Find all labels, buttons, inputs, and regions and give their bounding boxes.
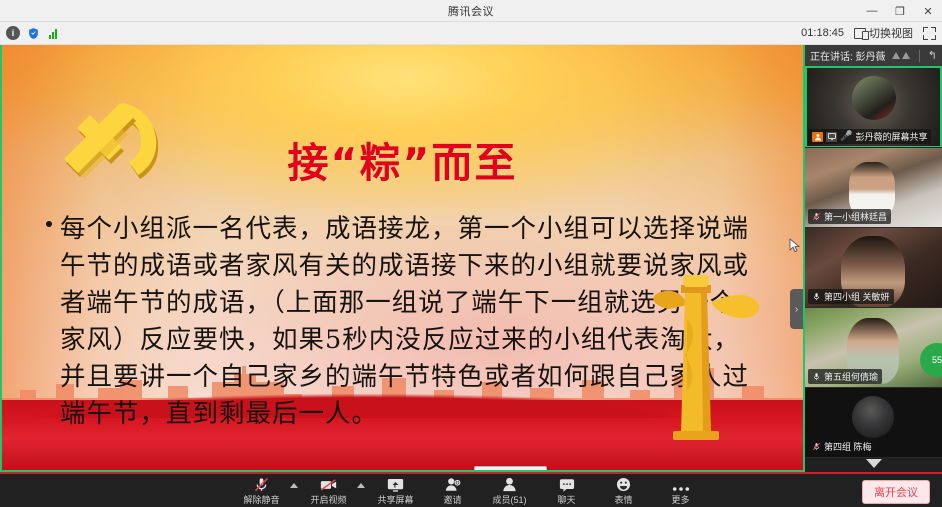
participant-nametag: 🎤 彭丹薇的屏幕共享	[808, 129, 931, 144]
meeting-toolbar: 解除静音 开启视频 共享屏幕 邀请	[0, 472, 942, 507]
camera-off-icon	[320, 477, 337, 492]
toolbar-label: 开启视频	[310, 493, 346, 506]
share-screen-icon	[387, 477, 404, 492]
speaking-indicator: 正在讲话: 彭丹薇 ↰	[805, 45, 942, 66]
minimize-button[interactable]: —	[858, 0, 886, 22]
mic-muted-icon	[254, 477, 269, 492]
unmute-button[interactable]: 解除静音	[233, 474, 290, 507]
mic-muted-icon	[812, 212, 821, 221]
chat-button[interactable]: 聊天	[538, 474, 595, 507]
share-screen-button[interactable]: 共享屏幕	[367, 474, 424, 507]
participant-name: 第四组 陈梅	[824, 440, 872, 453]
toolbar-label: 邀请	[443, 493, 461, 506]
mic-muted-icon	[812, 442, 821, 451]
mic-on-icon: 🎤	[840, 132, 852, 142]
more-button[interactable]: 更多	[652, 474, 709, 507]
divider	[919, 50, 920, 62]
collapse-panel-button[interactable]: ›	[790, 289, 803, 329]
presentation-slide: 接“粽”而至 每个小组派一名代表，成语接龙，第一个小组可以选择说端午节的成语或者…	[2, 45, 803, 470]
participant-tile[interactable]: 第四组 陈梅	[805, 388, 942, 458]
participant-tile[interactable]: 55 第五组何倩瑜	[805, 308, 942, 388]
switch-view-label: 切换视图	[869, 25, 913, 41]
window-title: 腾讯会议	[0, 3, 942, 19]
slide-title: 接“粽”而至	[2, 129, 803, 189]
participant-nametag: 第一小组林廷昌	[808, 209, 891, 224]
signal-icon[interactable]	[46, 28, 60, 39]
chevron-down-icon[interactable]	[805, 455, 942, 471]
avatar	[852, 396, 894, 438]
mic-on-icon	[812, 372, 821, 381]
emoji-face-icon	[616, 477, 631, 492]
toolbar-label: 共享屏幕	[377, 493, 413, 506]
participant-tile[interactable]: 🎤 彭丹薇的屏幕共享	[805, 66, 942, 148]
huabiao-pillar-icon	[651, 269, 761, 444]
mic-options-caret[interactable]	[290, 483, 298, 488]
slide-body-content: 每个小组派一名代表，成语接龙，第一个小组可以选择说端午节的成语或者家风有关的成语…	[60, 214, 749, 429]
info-icon[interactable]: i	[6, 26, 20, 40]
mic-on-icon	[812, 292, 821, 301]
participants-icon	[502, 477, 517, 492]
window-title-bar: 腾讯会议 — ❐ ✕	[0, 0, 942, 22]
more-dots-icon	[672, 477, 690, 492]
bullet-point-icon	[46, 221, 52, 227]
toolbar-label: 解除静音	[243, 493, 279, 506]
participant-tile[interactable]: 第四小组 关敏妍	[805, 228, 942, 308]
participant-rail: 正在讲话: 彭丹薇 ↰ 🎤 彭丹薇的屏幕共享	[805, 45, 942, 472]
invite-button[interactable]: 邀请	[424, 474, 481, 507]
participant-name: 第四小组 关敏妍	[824, 290, 890, 303]
meeting-status-icons: i	[6, 26, 60, 40]
meeting-timer: 01:18:45	[801, 27, 844, 39]
meeting-bar-right: 01:18:45 切换视图	[801, 25, 936, 41]
chat-bubble-icon	[559, 477, 575, 492]
leave-meeting-button[interactable]: 离开会议	[862, 480, 930, 504]
participant-name: 彭丹薇的屏幕共享	[855, 130, 927, 143]
invite-person-icon	[445, 477, 461, 492]
maximize-button[interactable]: ❐	[886, 0, 914, 22]
participant-name: 第五组何倩瑜	[824, 370, 878, 383]
participant-nametag: 第五组何倩瑜	[808, 369, 882, 384]
toolbar-label: 成员(51)	[492, 493, 526, 506]
participant-nametag: 第四组 陈梅	[808, 439, 876, 454]
person-icon	[812, 132, 823, 142]
toolbar-label: 更多	[671, 493, 689, 506]
audio-wave-icon	[892, 52, 910, 59]
participant-name: 第一小组林廷昌	[824, 210, 887, 223]
participants-button[interactable]: 成员(51)	[481, 474, 538, 507]
meeting-top-bar: i 01:18:45 切换视图	[0, 22, 942, 45]
shared-screen-stage[interactable]: 接“粽”而至 每个小组派一名代表，成语接龙，第一个小组可以选择说端午节的成语或者…	[0, 45, 805, 472]
participant-nametag: 第四小组 关敏妍	[808, 289, 894, 304]
back-arrow-icon[interactable]: ↰	[924, 49, 937, 62]
close-button[interactable]: ✕	[914, 0, 942, 22]
tencent-meeting-window: 腾讯会议 — ❐ ✕ i 01:18:45 切换视图	[0, 0, 942, 507]
speaking-label: 正在讲话: 彭丹薇	[810, 48, 886, 63]
toolbar-label: 表情	[614, 493, 632, 506]
screenshot-tooltip: 截图(Alt + A)	[474, 466, 547, 470]
video-options-caret[interactable]	[357, 483, 365, 488]
fullscreen-icon[interactable]	[923, 27, 936, 40]
switch-view-button[interactable]: 切换视图	[854, 25, 913, 41]
cursor-arrow-icon	[789, 238, 800, 253]
shield-icon[interactable]	[26, 26, 40, 40]
emoji-button[interactable]: 表情	[595, 474, 652, 507]
toolbar-items: 解除静音 开启视频 共享屏幕 邀请	[0, 474, 942, 507]
start-video-button[interactable]: 开启视频	[300, 474, 357, 507]
switch-view-icon	[854, 28, 866, 39]
participant-tile[interactable]: 第一小组林廷昌	[805, 148, 942, 228]
screen-share-icon	[826, 132, 837, 142]
toolbar-label: 聊天	[557, 493, 575, 506]
window-controls: — ❐ ✕	[858, 0, 942, 22]
